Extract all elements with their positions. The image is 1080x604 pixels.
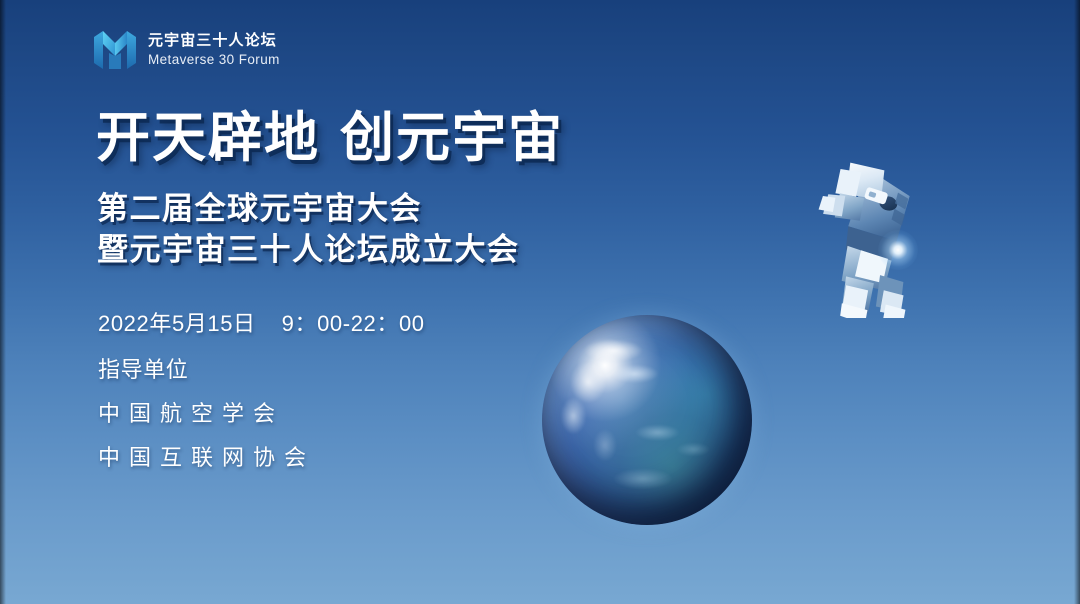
poster-subtitle: 第二届全球元宇宙大会 暨元宇宙三十人论坛成立大会 [97,188,520,270]
earth-terminator-shading [542,315,752,525]
earth-sphere [542,315,752,525]
poster-canvas: 元宇宙三十人论坛 Metaverse 30 Forum 开天辟地创元宇宙 第二届… [0,0,1080,604]
headline-part-2: 创元宇宙 [340,108,564,168]
logo-name-en: Metaverse 30 Forum [148,53,280,67]
logo-text-block: 元宇宙三十人论坛 Metaverse 30 Forum [148,33,280,67]
organizer-name-2: 中国互联网协会 [98,440,315,472]
left-edge-vignette [0,0,6,604]
floating-astronaut [784,152,944,318]
metaverse-m-logo-icon [92,29,138,71]
event-datetime: 2022年5月15日9：00-22：00 [98,306,425,338]
subtitle-line-1: 第二届全球元宇宙大会 [97,188,520,229]
event-time: 9：00-22：00 [282,306,425,338]
earth-globe [542,315,752,525]
event-date: 2022年5月15日 [98,311,256,336]
organizer-label: 指导单位 [98,352,188,384]
right-edge-vignette [1074,0,1080,604]
astronaut-illustration [784,152,944,318]
poster-headline: 开天辟地创元宇宙 [96,93,564,172]
organizer-name-1: 中国航空学会 [98,396,284,428]
logo-name-cn: 元宇宙三十人论坛 [148,33,280,48]
forum-logo: 元宇宙三十人论坛 Metaverse 30 Forum [92,29,280,71]
subtitle-line-2: 暨元宇宙三十人论坛成立大会 [97,229,520,270]
headline-part-1: 开天辟地 [96,108,320,168]
